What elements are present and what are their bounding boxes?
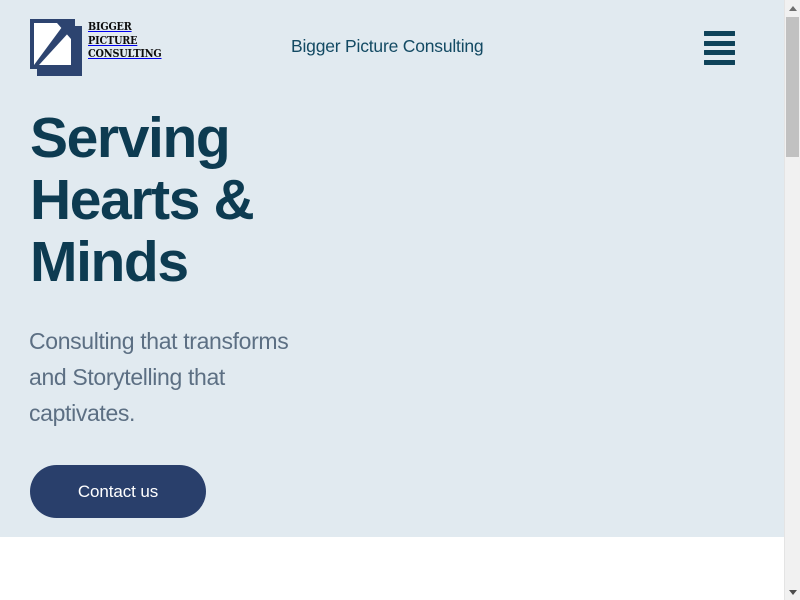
menu-bar-4	[704, 60, 735, 65]
menu-bar-3	[704, 50, 735, 55]
hero-subheading-line-1: Consulting that transforms	[29, 328, 288, 354]
menu-bar-1	[704, 31, 735, 36]
hero-heading-line-2: Hearts &	[30, 168, 253, 232]
scrollbar-thumb[interactable]	[786, 17, 799, 157]
logo-wordmark-line-3: Consulting	[88, 47, 162, 61]
hero-subheading-line-2: and Storytelling that	[29, 364, 225, 390]
brand-logo-link[interactable]: Bigger Picture Consulting	[30, 19, 155, 77]
logo-wordmark: Bigger Picture Consulting	[88, 20, 162, 61]
hero-section: Bigger Picture Consulting Bigger Picture…	[0, 0, 784, 537]
hero-subheading-line-3: captivates.	[29, 400, 135, 426]
page-title: Serving Hearts & Minds	[30, 107, 350, 293]
scroll-up-arrow-icon[interactable]	[785, 0, 800, 16]
hero-heading-line-3: Minds	[30, 230, 188, 294]
bigger-picture-consulting-logo-mark	[30, 19, 82, 76]
scroll-down-arrow-icon[interactable]	[785, 584, 800, 600]
menu-bar-2	[704, 41, 735, 46]
site-header: Bigger Picture Consulting Bigger Picture…	[0, 0, 784, 95]
below-fold-section	[0, 537, 784, 600]
site-title: Bigger Picture Consulting	[291, 36, 483, 57]
hero-subheading: Consulting that transforms and Storytell…	[29, 323, 369, 431]
hamburger-menu-icon[interactable]	[704, 31, 735, 65]
vertical-scrollbar[interactable]	[784, 0, 800, 600]
logo-wordmark-line-2: Picture	[88, 34, 162, 48]
page-viewport: Bigger Picture Consulting Bigger Picture…	[0, 0, 784, 600]
hero-heading-line-1: Serving	[30, 106, 229, 170]
logo-wordmark-line-1: Bigger	[88, 20, 162, 34]
contact-us-button[interactable]: Contact us	[30, 465, 206, 518]
